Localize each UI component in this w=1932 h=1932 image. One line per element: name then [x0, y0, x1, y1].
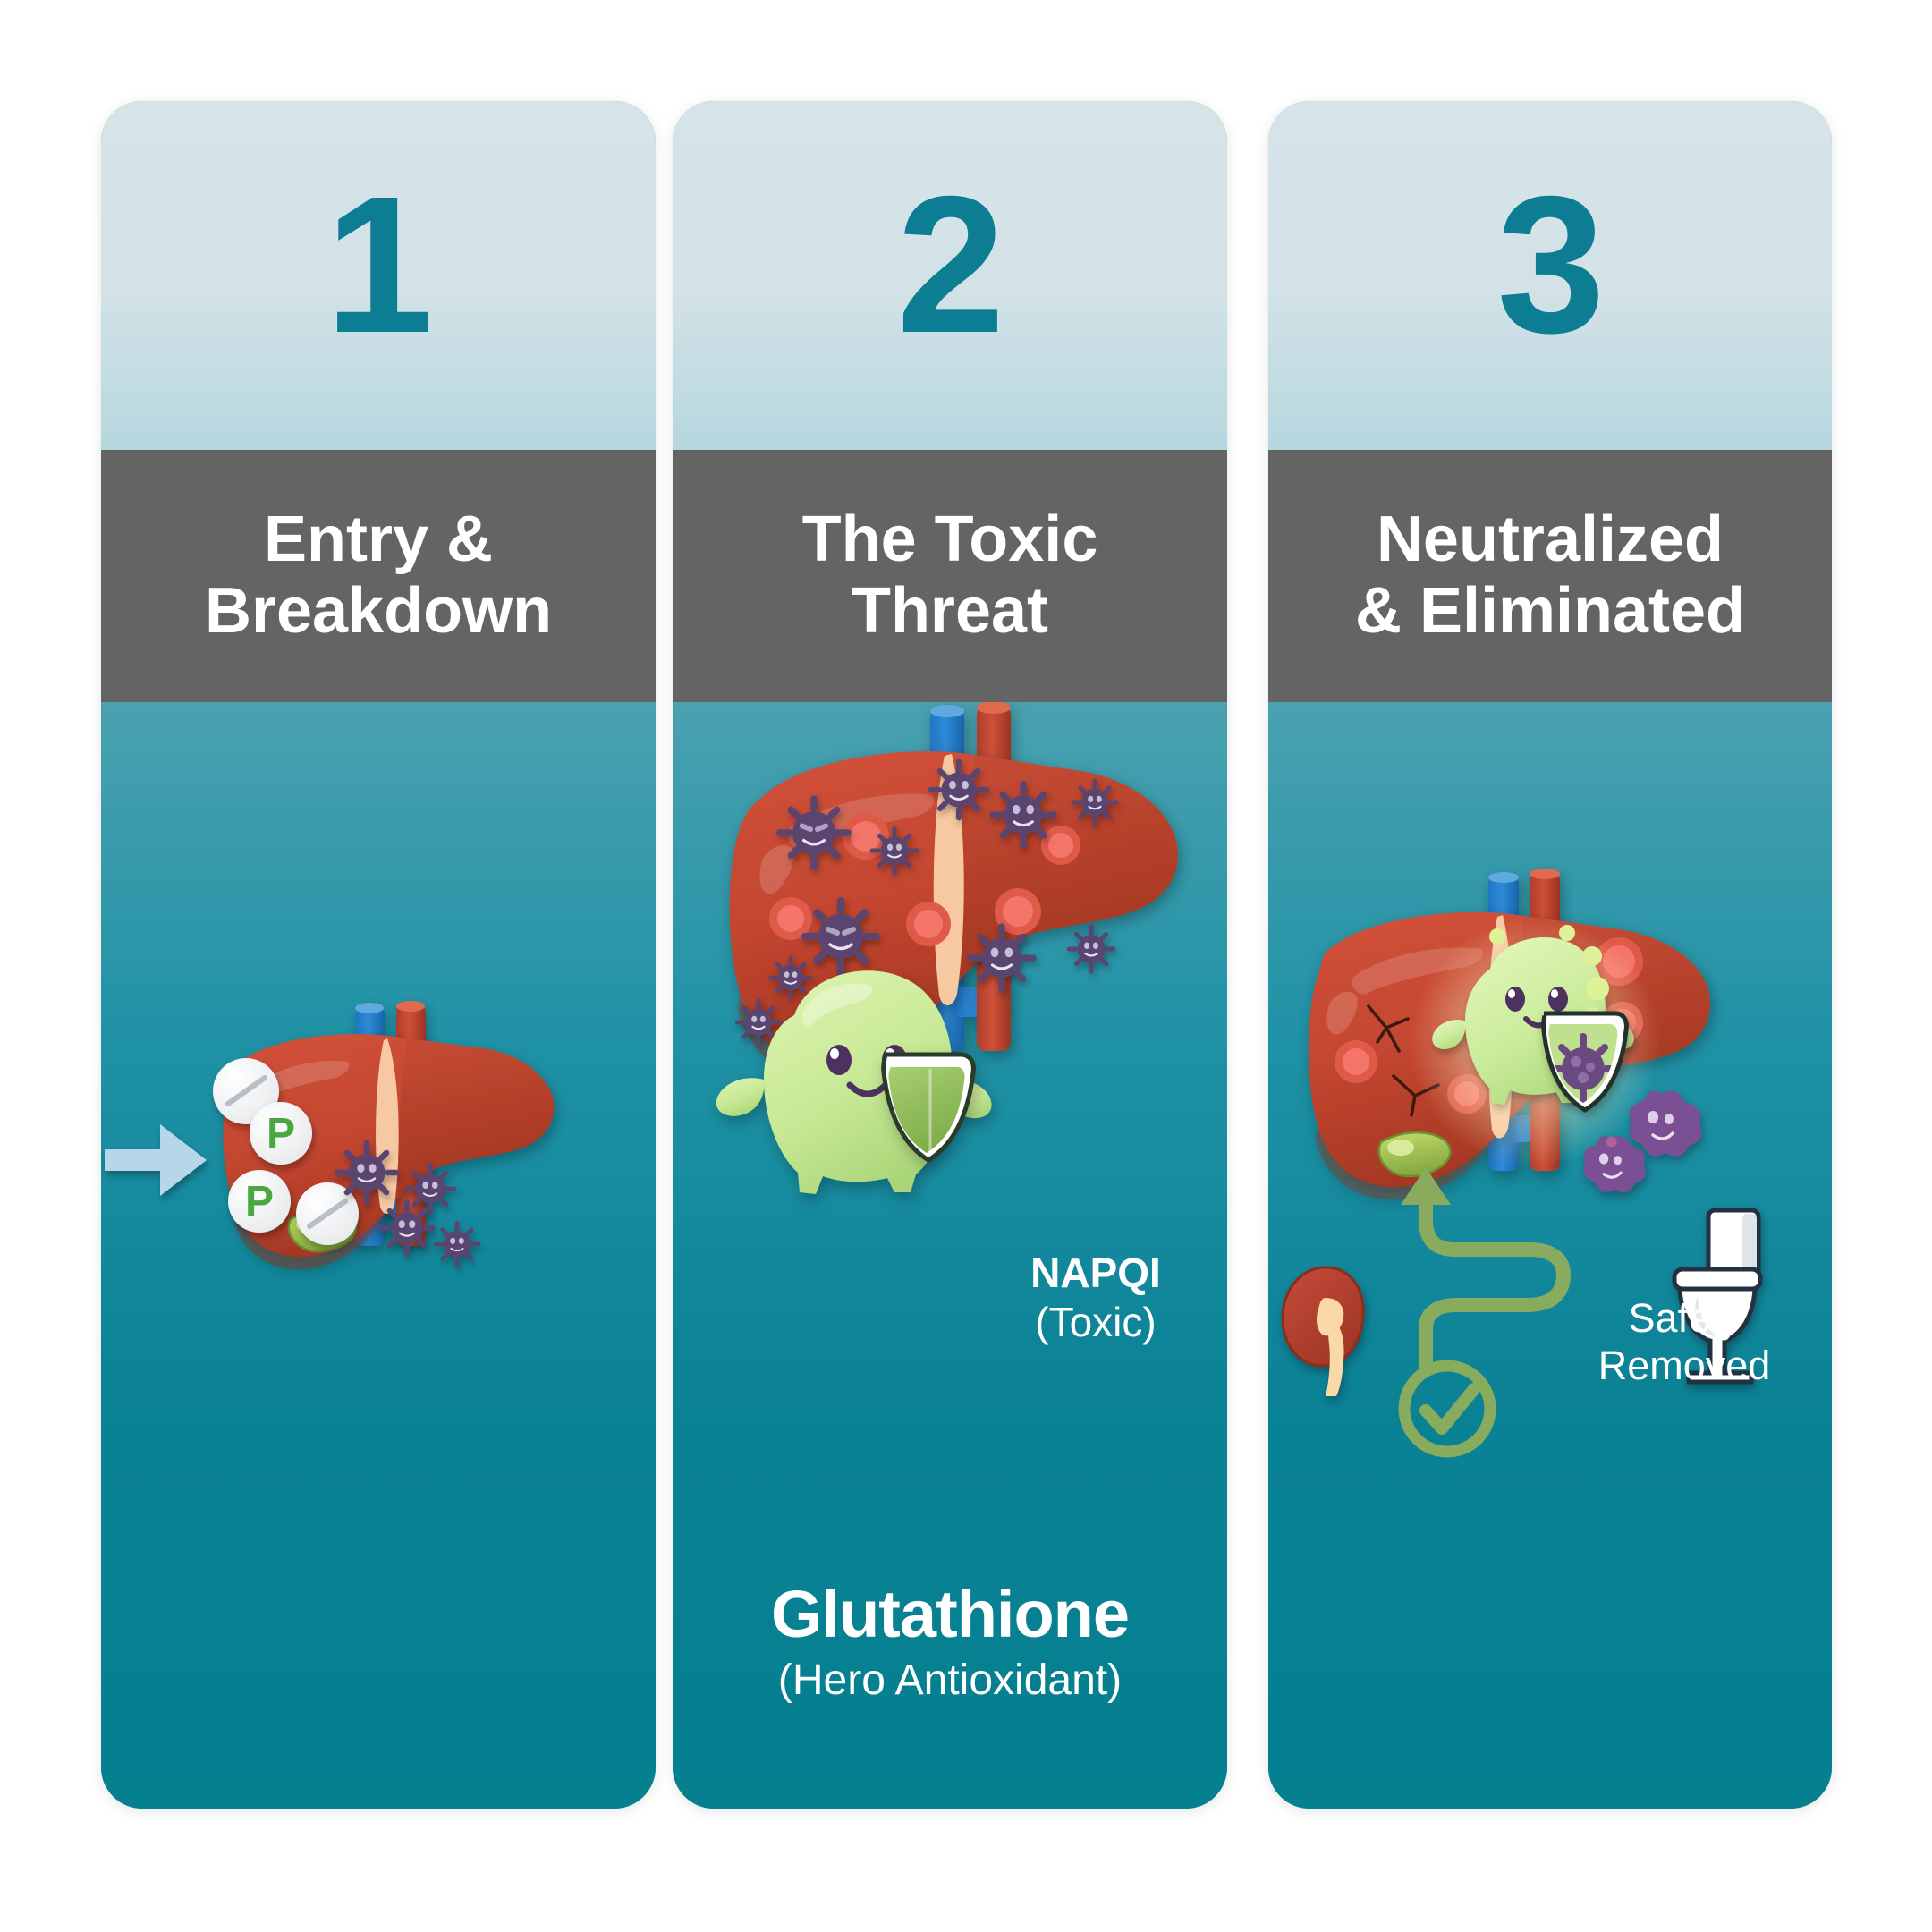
glutathione-label-title: Glutathione	[692, 1579, 1207, 1650]
step-3-number: 3	[1496, 168, 1603, 363]
step-1-illustration-area: P P	[101, 702, 656, 1809]
step-3-header: 3	[1268, 101, 1832, 450]
glutathione-label-subtitle: (Hero Antioxidant)	[692, 1657, 1207, 1704]
step-1-title-band: Entry & Breakdown	[101, 450, 656, 702]
safely-removed-label-text: Safely Removed	[1572, 1294, 1796, 1389]
step-panel-1: 1 Entry & Breakdown	[101, 101, 656, 1809]
step-2-title-band: The Toxic Threat	[673, 450, 1227, 702]
napqi-label-subtitle: (Toxic)	[984, 1301, 1207, 1345]
step-3-illustration-area: Safely Removed	[1268, 702, 1832, 1809]
step-3-title-band: Neutralized & Eliminated	[1268, 450, 1832, 702]
step-panel-3: 3 Neutralized & Eliminated	[1268, 101, 1832, 1809]
step-1-number: 1	[325, 168, 431, 363]
step-panel-2: 2 The Toxic Threat	[673, 101, 1227, 1809]
step-2-title: The Toxic Threat	[790, 504, 1111, 648]
pill-p-icon: P	[228, 1170, 291, 1233]
arrow-right-icon	[105, 1124, 207, 1196]
kidney-icon	[1283, 1267, 1363, 1396]
curved-arrow-icon	[1426, 1196, 1563, 1364]
detox-illustration	[1268, 863, 1832, 1507]
napqi-label-title: NAPQI	[984, 1251, 1207, 1296]
step-2-number: 2	[896, 168, 1003, 363]
step-1-title: Entry & Breakdown	[192, 504, 564, 648]
napqi-label: NAPQI (Toxic)	[984, 1251, 1207, 1344]
step-3-title: Neutralized & Eliminated	[1343, 504, 1758, 648]
step-1-header: 1	[101, 101, 656, 450]
liver-entry-illustration: P P	[101, 997, 647, 1427]
glutathione-label: Glutathione (Hero Antioxidant)	[692, 1579, 1207, 1704]
svg-text:P: P	[245, 1178, 274, 1225]
step-2-header: 2	[673, 101, 1227, 450]
pill-p-icon: P	[250, 1102, 312, 1165]
safely-removed-label: Safely Removed	[1572, 1294, 1796, 1389]
svg-text:P: P	[267, 1110, 295, 1157]
infographic-canvas: 1 Entry & Breakdown	[0, 0, 1932, 1932]
glutathione-character-icon	[708, 933, 1030, 1228]
toxin-particle-icon	[434, 1221, 481, 1268]
step-2-illustration-area: NAPQI (Toxic) Glutathione (Hero Antioxid…	[673, 702, 1227, 1809]
check-circle-icon	[1404, 1366, 1490, 1452]
